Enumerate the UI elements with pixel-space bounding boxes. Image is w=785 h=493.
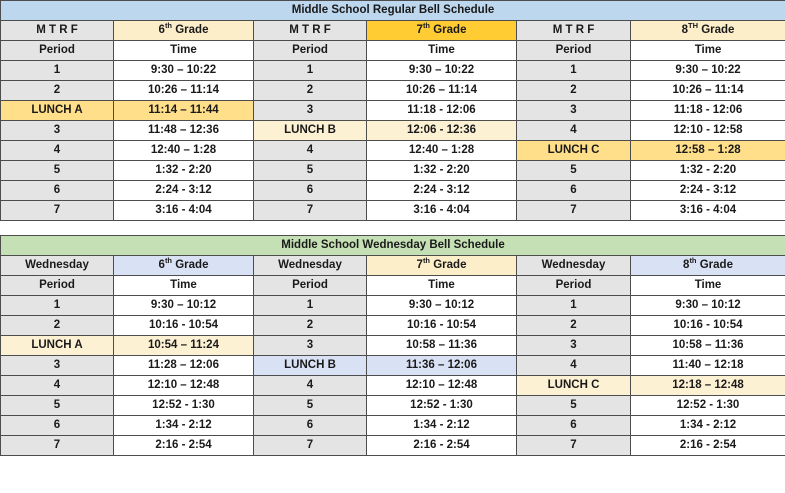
table-row: 311:48 – 12:36LUNCH B12:06 - 12:36412:10… (1, 121, 785, 141)
schedule-title: Middle School Regular Bell Schedule (1, 1, 785, 21)
time-cell: 9:30 – 10:12 (631, 296, 785, 316)
grade-header-8th: 8th Grade (631, 256, 785, 276)
wednesday-bell-schedule-table: Middle School Wednesday Bell ScheduleWed… (0, 235, 785, 456)
time-cell: 12:40 – 1:28 (114, 141, 254, 161)
schedule-title: Middle School Wednesday Bell Schedule (1, 236, 785, 256)
time-cell: 11:48 – 12:36 (114, 121, 254, 141)
time-cell: 11:28 – 12:06 (114, 356, 254, 376)
day-header-1: M T R F (1, 21, 114, 41)
day-header-3: Wednesday (517, 256, 631, 276)
period-cell: 4 (517, 121, 631, 141)
schedule-tables-container: Middle School Regular Bell ScheduleM T R… (0, 0, 785, 456)
period-cell: 7 (1, 201, 114, 221)
period-cell: 5 (254, 396, 367, 416)
period-cell: 4 (1, 376, 114, 396)
time-cell: 2:16 - 2:54 (631, 436, 785, 456)
grade-header-8th: 8TH Grade (631, 21, 785, 41)
period-cell: 3 (1, 121, 114, 141)
time-cell: 12:10 – 12:48 (114, 376, 254, 396)
period-cell: 2 (517, 316, 631, 336)
schedule-title-row: Middle School Wednesday Bell Schedule (1, 236, 785, 256)
period-cell: 7 (1, 436, 114, 456)
period-cell: 1 (254, 61, 367, 81)
period-cell: 3 (254, 101, 367, 121)
time-cell: 11:40 – 12:18 (631, 356, 785, 376)
lunch-label-cell: LUNCH C (517, 376, 631, 396)
grade-word: Grade (430, 259, 466, 271)
table-row: LUNCH A11:14 – 11:44311:18 - 12:06311:18… (1, 101, 785, 121)
period-cell: 1 (517, 296, 631, 316)
period-column-header-2: Period (254, 41, 367, 61)
period-cell: 1 (517, 61, 631, 81)
regular-bell-schedule-table: Middle School Regular Bell ScheduleM T R… (0, 0, 785, 221)
time-cell: 9:30 – 10:22 (631, 61, 785, 81)
grade-ordinal-suffix: th (165, 21, 172, 30)
time-cell: 3:16 - 4:04 (631, 201, 785, 221)
time-column-header-1: Time (114, 41, 254, 61)
grade-header-row: Wednesday6th GradeWednesday7th GradeWedn… (1, 256, 785, 276)
table-row: 62:24 - 3:1262:24 - 3:1262:24 - 3:12 (1, 181, 785, 201)
time-cell: 2:24 - 3:12 (367, 181, 517, 201)
period-column-header-1: Period (1, 41, 114, 61)
bell-schedule-page: Middle School Regular Bell ScheduleM T R… (0, 0, 785, 493)
time-cell: 10:58 – 11:36 (631, 336, 785, 356)
grade-ordinal-suffix: th (165, 256, 172, 265)
period-cell: 1 (1, 61, 114, 81)
table-row: 210:16 - 10:54210:16 - 10:54210:16 - 10:… (1, 316, 785, 336)
period-cell: 6 (517, 416, 631, 436)
time-cell: 10:16 - 10:54 (367, 316, 517, 336)
time-cell: 12:52 - 1:30 (631, 396, 785, 416)
time-cell: 10:26 – 11:14 (114, 81, 254, 101)
period-cell: 7 (254, 436, 367, 456)
time-column-header-3: Time (631, 41, 785, 61)
table-row: 210:26 – 11:14210:26 – 11:14210:26 – 11:… (1, 81, 785, 101)
period-column-header-1: Period (1, 276, 114, 296)
lunch-label-cell: LUNCH B (254, 121, 367, 141)
grade-header-row: M T R F6th GradeM T R F7th GradeM T R F8… (1, 21, 785, 41)
period-cell: 5 (254, 161, 367, 181)
time-cell: 1:32 - 2:20 (114, 161, 254, 181)
time-cell: 9:30 – 10:22 (367, 61, 517, 81)
period-cell: 6 (517, 181, 631, 201)
period-cell: 2 (254, 81, 367, 101)
period-cell: 2 (517, 81, 631, 101)
table-row: 73:16 - 4:0473:16 - 4:0473:16 - 4:04 (1, 201, 785, 221)
time-cell: 1:34 - 2:12 (631, 416, 785, 436)
period-cell: 6 (254, 416, 367, 436)
time-column-header-1: Time (114, 276, 254, 296)
period-cell: 2 (1, 81, 114, 101)
period-cell: 5 (517, 161, 631, 181)
time-cell: 2:24 - 3:12 (114, 181, 254, 201)
grade-ordinal-suffix: th (423, 256, 430, 265)
lunch-label-cell: LUNCH C (517, 141, 631, 161)
period-cell: 4 (254, 376, 367, 396)
lunch-time-cell: 10:54 – 11:24 (114, 336, 254, 356)
period-cell: 1 (1, 296, 114, 316)
time-cell: 2:24 - 3:12 (631, 181, 785, 201)
time-cell: 1:34 - 2:12 (114, 416, 254, 436)
time-cell: 1:32 - 2:20 (367, 161, 517, 181)
grade-word: Grade (172, 259, 208, 271)
time-cell: 10:16 - 10:54 (631, 316, 785, 336)
period-cell: 4 (254, 141, 367, 161)
grade-header-7th: 7th Grade (367, 21, 517, 41)
time-cell: 9:30 – 10:12 (367, 296, 517, 316)
time-cell: 10:16 - 10:54 (114, 316, 254, 336)
time-cell: 2:16 - 2:54 (367, 436, 517, 456)
lunch-label-cell: LUNCH B (254, 356, 367, 376)
time-column-header-2: Time (367, 276, 517, 296)
time-column-header-2: Time (367, 41, 517, 61)
day-header-3: M T R F (517, 21, 631, 41)
table-row: 19:30 – 10:1219:30 – 10:1219:30 – 10:12 (1, 296, 785, 316)
time-cell: 10:26 – 11:14 (367, 81, 517, 101)
table-row: 51:32 - 2:2051:32 - 2:2051:32 - 2:20 (1, 161, 785, 181)
period-cell: 5 (1, 396, 114, 416)
time-cell: 1:34 - 2:12 (367, 416, 517, 436)
table-row: 61:34 - 2:1261:34 - 2:1261:34 - 2:12 (1, 416, 785, 436)
period-cell: 5 (1, 161, 114, 181)
time-cell: 12:40 – 1:28 (367, 141, 517, 161)
schedule-title-row: Middle School Regular Bell Schedule (1, 1, 785, 21)
time-cell: 12:52 - 1:30 (367, 396, 517, 416)
period-cell: 4 (1, 141, 114, 161)
lunch-label-cell: LUNCH A (1, 101, 114, 121)
lunch-time-cell: 12:58 – 1:28 (631, 141, 785, 161)
period-column-header-3: Period (517, 276, 631, 296)
period-cell: 7 (517, 201, 631, 221)
grade-ordinal-suffix: th (423, 21, 430, 30)
time-cell: 9:30 – 10:12 (114, 296, 254, 316)
period-column-header-2: Period (254, 276, 367, 296)
column-subheader-row: PeriodTimePeriodTimePeriodTime (1, 276, 785, 296)
grade-header-7th: 7th Grade (367, 256, 517, 276)
period-cell: 3 (517, 336, 631, 356)
lunch-time-cell: 12:18 – 12:48 (631, 376, 785, 396)
lunch-label-cell: LUNCH A (1, 336, 114, 356)
grade-ordinal-suffix: th (689, 256, 696, 265)
time-cell: 12:10 - 12:58 (631, 121, 785, 141)
table-row: LUNCH A10:54 – 11:24310:58 – 11:36310:58… (1, 336, 785, 356)
period-column-header-3: Period (517, 41, 631, 61)
time-cell: 3:16 - 4:04 (367, 201, 517, 221)
time-cell: 9:30 – 10:22 (114, 61, 254, 81)
grade-word: Grade (698, 24, 734, 36)
period-cell: 2 (254, 316, 367, 336)
time-cell: 10:26 – 11:14 (631, 81, 785, 101)
lunch-time-cell: 11:14 – 11:44 (114, 101, 254, 121)
time-cell: 2:16 - 2:54 (114, 436, 254, 456)
period-cell: 4 (517, 356, 631, 376)
day-header-2: Wednesday (254, 256, 367, 276)
table-spacer (0, 221, 785, 235)
period-cell: 2 (1, 316, 114, 336)
time-cell: 12:52 - 1:30 (114, 396, 254, 416)
table-row: 19:30 – 10:2219:30 – 10:2219:30 – 10:22 (1, 61, 785, 81)
column-subheader-row: PeriodTimePeriodTimePeriodTime (1, 41, 785, 61)
grade-word: Grade (430, 24, 466, 36)
period-cell: 3 (1, 356, 114, 376)
period-cell: 3 (517, 101, 631, 121)
period-cell: 3 (254, 336, 367, 356)
time-cell: 12:10 – 12:48 (367, 376, 517, 396)
lunch-time-cell: 12:06 - 12:36 (367, 121, 517, 141)
period-cell: 1 (254, 296, 367, 316)
lunch-time-cell: 11:36 – 12:06 (367, 356, 517, 376)
grade-header-6th: 6th Grade (114, 256, 254, 276)
time-cell: 10:58 – 11:36 (367, 336, 517, 356)
table-row: 72:16 - 2:5472:16 - 2:5472:16 - 2:54 (1, 436, 785, 456)
table-row: 412:40 – 1:28412:40 – 1:28LUNCH C12:58 –… (1, 141, 785, 161)
time-cell: 3:16 - 4:04 (114, 201, 254, 221)
period-cell: 6 (1, 416, 114, 436)
time-cell: 11:18 - 12:06 (631, 101, 785, 121)
grade-word: Grade (172, 24, 208, 36)
time-cell: 1:32 - 2:20 (631, 161, 785, 181)
grade-word: Grade (697, 259, 733, 271)
grade-header-6th: 6th Grade (114, 21, 254, 41)
period-cell: 6 (1, 181, 114, 201)
table-row: 512:52 - 1:30512:52 - 1:30512:52 - 1:30 (1, 396, 785, 416)
time-column-header-3: Time (631, 276, 785, 296)
day-header-1: Wednesday (1, 256, 114, 276)
table-row: 412:10 – 12:48412:10 – 12:48LUNCH C12:18… (1, 376, 785, 396)
time-cell: 11:18 - 12:06 (367, 101, 517, 121)
table-row: 311:28 – 12:06LUNCH B11:36 – 12:06411:40… (1, 356, 785, 376)
period-cell: 5 (517, 396, 631, 416)
day-header-2: M T R F (254, 21, 367, 41)
grade-ordinal-suffix: TH (688, 21, 698, 30)
period-cell: 7 (254, 201, 367, 221)
period-cell: 6 (254, 181, 367, 201)
period-cell: 7 (517, 436, 631, 456)
